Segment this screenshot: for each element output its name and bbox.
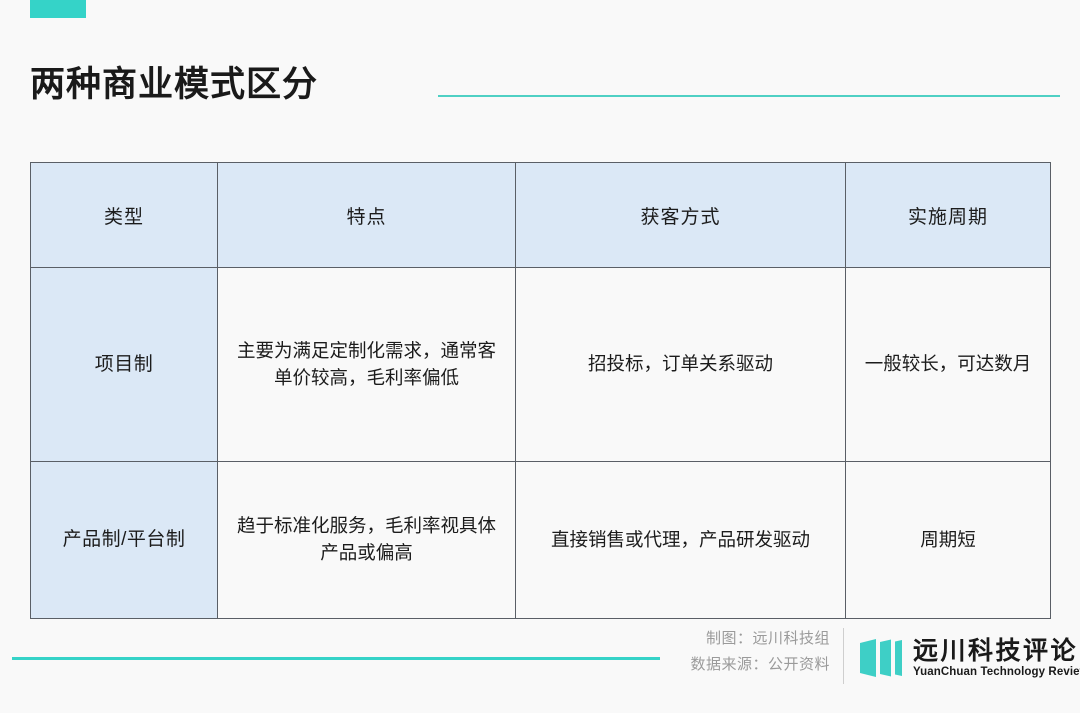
slide-canvas: 两种商业模式区分 类型 特点 获客方式 实施周期 项目制 主要为满足定制化需求，… [0,0,1080,713]
title-row: 两种商业模式区分 [0,62,1080,122]
brand-name-en: YuanChuan Technology Review [913,665,1080,680]
cell-features: 主要为满足定制化需求，通常客单价较高，毛利率偏低 [218,268,516,462]
column-header-cycle: 实施周期 [846,163,1051,268]
footer-divider [843,628,844,684]
column-header-acquisition: 获客方式 [516,163,846,268]
yuanchuan-logo-icon [858,635,904,681]
cell-type: 产品制/平台制 [31,462,218,619]
cell-acquisition: 招投标，订单关系驱动 [516,268,846,462]
footer-credits: 制图：远川科技组 数据来源：公开资料 [662,626,830,678]
credit-data-source: 数据来源：公开资料 [662,652,830,678]
table-body: 项目制 主要为满足定制化需求，通常客单价较高，毛利率偏低 招投标，订单关系驱动 … [31,268,1051,619]
table-header: 类型 特点 获客方式 实施周期 [31,163,1051,268]
title-rule [438,95,1060,97]
column-header-type: 类型 [31,163,218,268]
brand-text: 远川科技评论 YuanChuan Technology Review [913,637,1080,680]
page-title: 两种商业模式区分 [30,62,318,108]
credit-chart-author: 制图：远川科技组 [662,626,830,652]
footer-rule [12,657,660,660]
accent-block [30,0,86,18]
cell-type: 项目制 [31,268,218,462]
comparison-table-wrapper: 类型 特点 获客方式 实施周期 项目制 主要为满足定制化需求，通常客单价较高，毛… [30,162,1050,619]
table-header-row: 类型 特点 获客方式 实施周期 [31,163,1051,268]
cell-cycle: 周期短 [846,462,1051,619]
cell-features: 趋于标准化服务，毛利率视具体产品或偏高 [218,462,516,619]
table-row: 产品制/平台制 趋于标准化服务，毛利率视具体产品或偏高 直接销售或代理，产品研发… [31,462,1051,619]
cell-cycle: 一般较长，可达数月 [846,268,1051,462]
table-row: 项目制 主要为满足定制化需求，通常客单价较高，毛利率偏低 招投标，订单关系驱动 … [31,268,1051,462]
cell-acquisition: 直接销售或代理，产品研发驱动 [516,462,846,619]
brand-name-cn: 远川科技评论 [913,637,1080,665]
column-header-features: 特点 [218,163,516,268]
comparison-table: 类型 特点 获客方式 实施周期 项目制 主要为满足定制化需求，通常客单价较高，毛… [30,162,1051,619]
brand-logo: 远川科技评论 YuanChuan Technology Review [858,631,1080,685]
